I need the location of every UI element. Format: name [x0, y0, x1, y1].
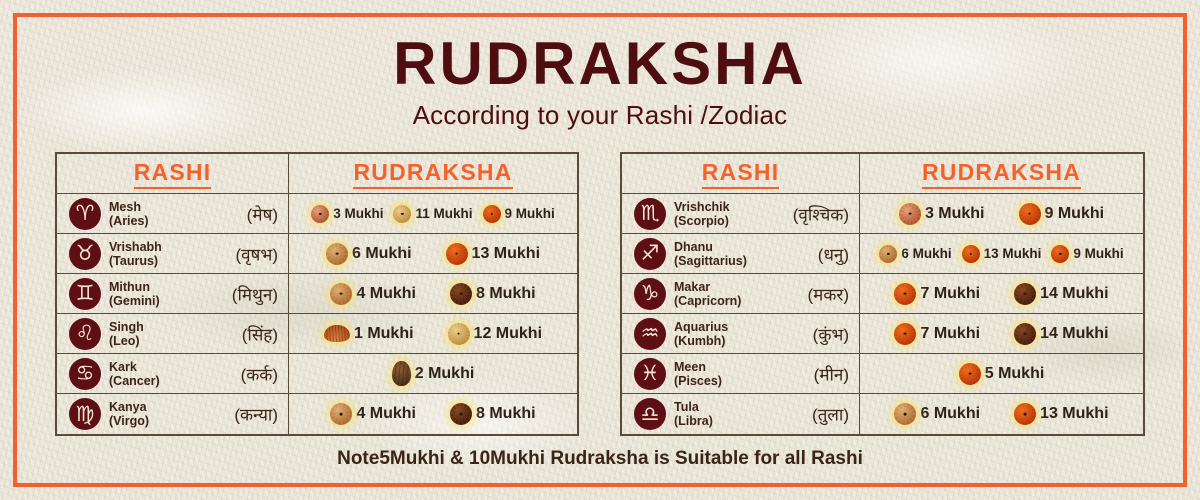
rudraksha-label: 7 Mukhi [920, 285, 980, 303]
cancer-icon: ♋ [69, 358, 101, 390]
rashi-name-hi: (तुला) [812, 403, 849, 426]
rudraksha-label: 6 Mukhi [901, 246, 951, 261]
bead-5-mukhi [959, 363, 981, 385]
rashi-name-en: Vrishabh [109, 240, 162, 254]
rudraksha-list: 6 Mukhi13 Mukhi9 Mukhi [860, 245, 1143, 263]
rashi-name-block: Mesh(Aries) [109, 200, 149, 228]
rashi-cell: ♈Mesh(Aries)(मेष) [57, 194, 289, 233]
table-row[interactable]: ♊Mithun(Gemini)(मिथुन)4 Mukhi8 Mukhi [57, 274, 577, 314]
rudraksha-cell: 7 Mukhi14 Mukhi [860, 274, 1143, 313]
bead-8-mukhi [450, 403, 472, 425]
rashi-cell: ♉Vrishabh(Taurus)(वृषभ) [57, 234, 289, 273]
rudraksha-label: 9 Mukhi [1045, 205, 1105, 223]
bead-9-mukhi [1019, 203, 1041, 225]
rashi-table-left: RASHIRUDRAKSHA♈Mesh(Aries)(मेष)3 Mukhi11… [55, 152, 579, 436]
rashi-cell: ♎Tula(Libra)(तुला) [622, 394, 860, 434]
rudraksha-label: 8 Mukhi [476, 405, 536, 423]
bead-7-mukhi [894, 283, 916, 305]
rudraksha-cell: 3 Mukhi11 Mukhi9 Mukhi [289, 194, 577, 233]
rashi-name-block: Aquarius(Kumbh) [674, 320, 728, 348]
rudraksha-label: 8 Mukhi [476, 285, 536, 303]
page-subtitle: According to your Rashi /Zodiac [0, 100, 1200, 131]
bead-13-mukhi [446, 243, 468, 265]
rudraksha-label: 13 Mukhi [1040, 405, 1108, 423]
rudraksha-label: 4 Mukhi [356, 405, 416, 423]
aries-icon: ♈ [69, 198, 101, 230]
rashi-name-block: Kanya(Virgo) [109, 400, 149, 428]
bead-9-mukhi [1051, 245, 1069, 263]
rudraksha-label: 3 Mukhi [925, 205, 985, 223]
rashi-cell: ♑Makar(Capricorn)(मकर) [622, 274, 860, 313]
rashi-name-hi: (मकर) [808, 282, 850, 305]
footer-note: Note5Mukhi & 10Mukhi Rudraksha is Suitab… [0, 448, 1200, 470]
rudraksha-item[interactable]: 6 Mukhi [894, 403, 980, 425]
rashi-name-en-alt: (Aries) [109, 214, 149, 228]
rudraksha-list: 3 Mukhi9 Mukhi [860, 203, 1143, 225]
rudraksha-label: 2 Mukhi [415, 365, 475, 383]
rashi-name-block: Meen(Pisces) [674, 360, 722, 388]
rudraksha-cell: 7 Mukhi14 Mukhi [860, 314, 1143, 353]
rashi-name-block: Dhanu(Sagittarius) [674, 240, 747, 268]
rudraksha-item[interactable]: 12 Mukhi [448, 323, 542, 345]
rudraksha-cell: 3 Mukhi9 Mukhi [860, 194, 1143, 233]
rudraksha-cell: 6 Mukhi13 Mukhi [289, 234, 577, 273]
rashi-name-block: Vrishchik(Scorpio) [674, 200, 730, 228]
gemini-icon: ♊ [69, 278, 101, 310]
column-header-rudraksha: RUDRAKSHA [289, 154, 577, 193]
rashi-name-en-alt: (Capricorn) [674, 294, 741, 308]
table-row[interactable]: ♋Kark(Cancer)(कर्क)2 Mukhi [57, 354, 577, 394]
rudraksha-cell: 4 Mukhi8 Mukhi [289, 394, 577, 434]
rudraksha-list: 6 Mukhi13 Mukhi [860, 403, 1143, 425]
rashi-name-hi: (वृश्चिक) [793, 202, 849, 225]
rashi-table-right: RASHIRUDRAKSHA♏Vrishchik(Scorpio)(वृश्चि… [620, 152, 1145, 436]
taurus-icon: ♉ [69, 238, 101, 270]
rashi-name-en-alt: (Taurus) [109, 254, 162, 268]
rudraksha-item[interactable]: 8 Mukhi [450, 403, 536, 425]
rashi-name-block: Kark(Cancer) [109, 360, 160, 388]
rashi-name-hi: (मिथुन) [232, 282, 278, 305]
rashi-cell: ♒Aquarius(Kumbh)(कुंभ) [622, 314, 860, 353]
rudraksha-cell: 5 Mukhi [860, 354, 1143, 393]
rudraksha-item[interactable]: 3 Mukhi [899, 203, 985, 225]
bead-14-mukhi [1014, 323, 1036, 345]
bead-13-mukhi [1014, 403, 1036, 425]
rashi-name-en: Vrishchik [674, 200, 730, 214]
rudraksha-label: 9 Mukhi [1073, 246, 1123, 261]
rudraksha-label: 6 Mukhi [920, 405, 980, 423]
bead-4-mukhi [330, 283, 352, 305]
column-header-rashi-label: RASHI [134, 159, 212, 189]
rudraksha-item[interactable]: 7 Mukhi [894, 323, 980, 345]
column-header-rudraksha-label: RUDRAKSHA [353, 159, 512, 189]
rashi-name-en: Tula [674, 400, 713, 414]
rudraksha-list: 3 Mukhi11 Mukhi9 Mukhi [289, 205, 577, 223]
rashi-cell: ♌Singh(Leo)(सिंह) [57, 314, 289, 353]
rashi-name-en: Meen [674, 360, 722, 374]
rudraksha-label: 3 Mukhi [333, 206, 383, 221]
table-header-row: RASHIRUDRAKSHA [57, 154, 577, 194]
column-header-rashi: RASHI [57, 154, 289, 193]
table-row[interactable]: ♏Vrishchik(Scorpio)(वृश्चिक)3 Mukhi9 Muk… [622, 194, 1143, 234]
rashi-name-hi: (सिंह) [242, 322, 278, 345]
rudraksha-item[interactable]: 9 Mukhi [483, 205, 555, 223]
rashi-name-hi: (मीन) [814, 362, 849, 385]
rudraksha-list: 4 Mukhi8 Mukhi [289, 283, 577, 305]
virgo-icon: ♍ [69, 398, 101, 430]
rudraksha-item[interactable]: 1 Mukhi [324, 325, 414, 343]
table-row[interactable]: ♒Aquarius(Kumbh)(कुंभ)7 Mukhi14 Mukhi [622, 314, 1143, 354]
rashi-name-en-alt: (Libra) [674, 414, 713, 428]
sagittarius-icon: ♐ [634, 238, 666, 270]
rudraksha-list: 6 Mukhi13 Mukhi [289, 243, 577, 265]
rudraksha-list: 7 Mukhi14 Mukhi [860, 323, 1143, 345]
rudraksha-item[interactable]: 9 Mukhi [1019, 203, 1105, 225]
scorpio-icon: ♏ [634, 198, 666, 230]
bead-6-mukhi [879, 245, 897, 263]
rudraksha-item[interactable]: 8 Mukhi [450, 283, 536, 305]
rudraksha-label: 12 Mukhi [474, 325, 542, 343]
rashi-name-hi: (मेष) [247, 202, 278, 225]
rudraksha-item[interactable]: 7 Mukhi [894, 283, 980, 305]
bead-11-mukhi [393, 205, 411, 223]
bead-3-mukhi [899, 203, 921, 225]
page-title: RUDRAKSHA [0, 34, 1200, 94]
rashi-name-en-alt: (Leo) [109, 334, 144, 348]
rudraksha-label: 13 Mukhi [472, 245, 540, 263]
bead-1-mukhi [324, 325, 350, 342]
table-row[interactable]: ♎Tula(Libra)(तुला)6 Mukhi13 Mukhi [622, 394, 1143, 434]
rudraksha-cell: 1 Mukhi12 Mukhi [289, 314, 577, 353]
rashi-name-en: Mesh [109, 200, 149, 214]
rudraksha-item[interactable]: 5 Mukhi [959, 363, 1045, 385]
rashi-name-hi: (कन्या) [234, 403, 278, 426]
table-row[interactable]: ♉Vrishabh(Taurus)(वृषभ)6 Mukhi13 Mukhi [57, 234, 577, 274]
rashi-name-en: Singh [109, 320, 144, 334]
rudraksha-item[interactable]: 6 Mukhi [879, 245, 951, 263]
header: RUDRAKSHA According to your Rashi /Zodia… [0, 34, 1200, 131]
aquarius-icon: ♒ [634, 318, 666, 350]
rashi-name-en: Kanya [109, 400, 149, 414]
pisces-icon: ♓ [634, 358, 666, 390]
rudraksha-item[interactable]: 14 Mukhi [1014, 323, 1108, 345]
bead-14-mukhi [1014, 283, 1036, 305]
rudraksha-label: 4 Mukhi [356, 285, 416, 303]
rudraksha-item[interactable]: 11 Mukhi [393, 205, 472, 223]
rudraksha-label: 1 Mukhi [354, 325, 414, 343]
column-header-rudraksha-label: RUDRAKSHA [922, 159, 1081, 189]
rudraksha-item[interactable]: 4 Mukhi [330, 283, 416, 305]
rudraksha-cell: 2 Mukhi [289, 354, 577, 393]
rashi-name-en-alt: (Virgo) [109, 414, 149, 428]
rashi-cell: ♏Vrishchik(Scorpio)(वृश्चिक) [622, 194, 860, 233]
rudraksha-list: 2 Mukhi [289, 361, 577, 386]
rudraksha-item[interactable]: 13 Mukhi [962, 245, 1042, 263]
capricorn-icon: ♑ [634, 278, 666, 310]
column-header-rudraksha: RUDRAKSHA [860, 154, 1143, 193]
rudraksha-item[interactable]: 13 Mukhi [446, 243, 540, 265]
rudraksha-item[interactable]: 14 Mukhi [1014, 283, 1108, 305]
bead-6-mukhi [894, 403, 916, 425]
rashi-cell: ♐Dhanu(Sagittarius)(धनु) [622, 234, 860, 273]
rashi-name-en: Kark [109, 360, 160, 374]
rashi-cell: ♊Mithun(Gemini)(मिथुन) [57, 274, 289, 313]
rudraksha-list: 7 Mukhi14 Mukhi [860, 283, 1143, 305]
rashi-cell: ♍Kanya(Virgo)(कन्या) [57, 394, 289, 434]
rashi-name-en: Mithun [109, 280, 160, 294]
rashi-name-hi: (कर्क) [241, 362, 278, 385]
rudraksha-cell: 4 Mukhi8 Mukhi [289, 274, 577, 313]
table-row[interactable]: ♈Mesh(Aries)(मेष)3 Mukhi11 Mukhi9 Mukhi [57, 194, 577, 234]
rashi-name-en-alt: (Sagittarius) [674, 254, 747, 268]
bead-8-mukhi [450, 283, 472, 305]
rashi-name-block: Singh(Leo) [109, 320, 144, 348]
rudraksha-label: 14 Mukhi [1040, 285, 1108, 303]
bead-4-mukhi [330, 403, 352, 425]
rashi-name-en-alt: (Scorpio) [674, 214, 730, 228]
bead-12-mukhi [448, 323, 470, 345]
rudraksha-label: 9 Mukhi [505, 206, 555, 221]
bead-3-mukhi [311, 205, 329, 223]
table-row[interactable]: ♍Kanya(Virgo)(कन्या)4 Mukhi8 Mukhi [57, 394, 577, 434]
leo-icon: ♌ [69, 318, 101, 350]
rudraksha-label: 13 Mukhi [984, 246, 1042, 261]
bead-13-mukhi [962, 245, 980, 263]
rashi-name-en: Makar [674, 280, 741, 294]
rudraksha-cell: 6 Mukhi13 Mukhi9 Mukhi [860, 234, 1143, 273]
bead-6-mukhi [326, 243, 348, 265]
rashi-cell: ♋Kark(Cancer)(कर्क) [57, 354, 289, 393]
rashi-name-hi: (वृषभ) [235, 242, 278, 265]
table-row[interactable]: ♌Singh(Leo)(सिंह)1 Mukhi12 Mukhi [57, 314, 577, 354]
rudraksha-label: 14 Mukhi [1040, 325, 1108, 343]
table-row[interactable]: ♓Meen(Pisces)(मीन)5 Mukhi [622, 354, 1143, 394]
bead-7-mukhi [894, 323, 916, 345]
rudraksha-label: 5 Mukhi [985, 365, 1045, 383]
rudraksha-item[interactable]: 4 Mukhi [330, 403, 416, 425]
rashi-name-block: Tula(Libra) [674, 400, 713, 428]
rudraksha-label: 11 Mukhi [415, 206, 472, 221]
rashi-name-hi: (धनु) [818, 242, 849, 265]
rashi-name-hi: (कुंभ) [813, 322, 849, 345]
rashi-name-block: Vrishabh(Taurus) [109, 240, 162, 268]
rudraksha-cell: 6 Mukhi13 Mukhi [860, 394, 1143, 434]
bead-2-mukhi [392, 361, 411, 386]
rudraksha-list: 1 Mukhi12 Mukhi [289, 323, 577, 345]
rashi-name-en-alt: (Pisces) [674, 374, 722, 388]
rashi-name-en-alt: (Kumbh) [674, 334, 728, 348]
rudraksha-item[interactable]: 13 Mukhi [1014, 403, 1108, 425]
rudraksha-item[interactable]: 9 Mukhi [1051, 245, 1123, 263]
rashi-name-en: Dhanu [674, 240, 747, 254]
rudraksha-item[interactable]: 2 Mukhi [392, 361, 475, 386]
rudraksha-label: 6 Mukhi [352, 245, 412, 263]
column-header-rashi: RASHI [622, 154, 860, 193]
bead-9-mukhi [483, 205, 501, 223]
column-header-rashi-label: RASHI [702, 159, 780, 189]
rashi-name-block: Mithun(Gemini) [109, 280, 160, 308]
rashi-cell: ♓Meen(Pisces)(मीन) [622, 354, 860, 393]
rudraksha-label: 7 Mukhi [920, 325, 980, 343]
rudraksha-item[interactable]: 3 Mukhi [311, 205, 383, 223]
rudraksha-list: 5 Mukhi [860, 363, 1143, 385]
table-row[interactable]: ♑Makar(Capricorn)(मकर)7 Mukhi14 Mukhi [622, 274, 1143, 314]
rashi-name-en-alt: (Cancer) [109, 374, 160, 388]
libra-icon: ♎ [634, 398, 666, 430]
rudraksha-list: 4 Mukhi8 Mukhi [289, 403, 577, 425]
rudraksha-item[interactable]: 6 Mukhi [326, 243, 412, 265]
rashi-name-en: Aquarius [674, 320, 728, 334]
rashi-name-block: Makar(Capricorn) [674, 280, 741, 308]
table-header-row: RASHIRUDRAKSHA [622, 154, 1143, 194]
table-row[interactable]: ♐Dhanu(Sagittarius)(धनु)6 Mukhi13 Mukhi9… [622, 234, 1143, 274]
rashi-name-en-alt: (Gemini) [109, 294, 160, 308]
